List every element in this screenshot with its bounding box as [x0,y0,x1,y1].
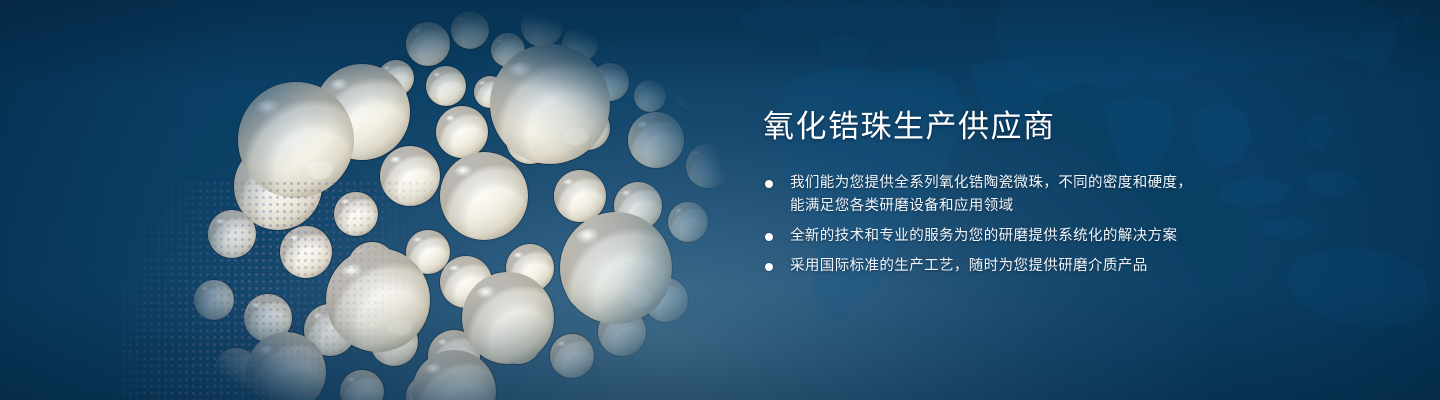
banner-headline: 氧化锆珠生产供应商 [763,108,1233,146]
bullet-item-1: 我们能为您提供全系列氧化锆陶瓷微珠，不同的密度和硬度， 能满足您各类研磨设备和应… [763,172,1233,218]
banner-copy: 氧化锆珠生产供应商 我们能为您提供全系列氧化锆陶瓷微珠，不同的密度和硬度， 能满… [763,108,1233,278]
bullet-2-line-1: 全新的技术和专业的服务为您的研磨提供系统化的解决方案 [790,225,1233,248]
bullet-dot-icon [765,180,773,188]
bullet-dot-icon [765,263,773,271]
bullet-1-line-2: 能满足您各类研磨设备和应用领域 [790,195,1233,218]
hero-banner: 氧化锆珠生产供应商 我们能为您提供全系列氧化锆陶瓷微珠，不同的密度和硬度， 能满… [0,0,1440,400]
bullet-item-3: 采用国际标准的生产工艺，随时为您提供研磨介质产品 [763,255,1233,278]
bullet-1-line-1: 我们能为您提供全系列氧化锆陶瓷微珠，不同的密度和硬度， [790,172,1233,195]
bullet-item-2: 全新的技术和专业的服务为您的研磨提供系统化的解决方案 [763,225,1233,248]
banner-bullet-list: 我们能为您提供全系列氧化锆陶瓷微珠，不同的密度和硬度， 能满足您各类研磨设备和应… [763,172,1233,278]
bullet-dot-icon [765,233,773,241]
bullet-3-line-1: 采用国际标准的生产工艺，随时为您提供研磨介质产品 [790,255,1233,278]
